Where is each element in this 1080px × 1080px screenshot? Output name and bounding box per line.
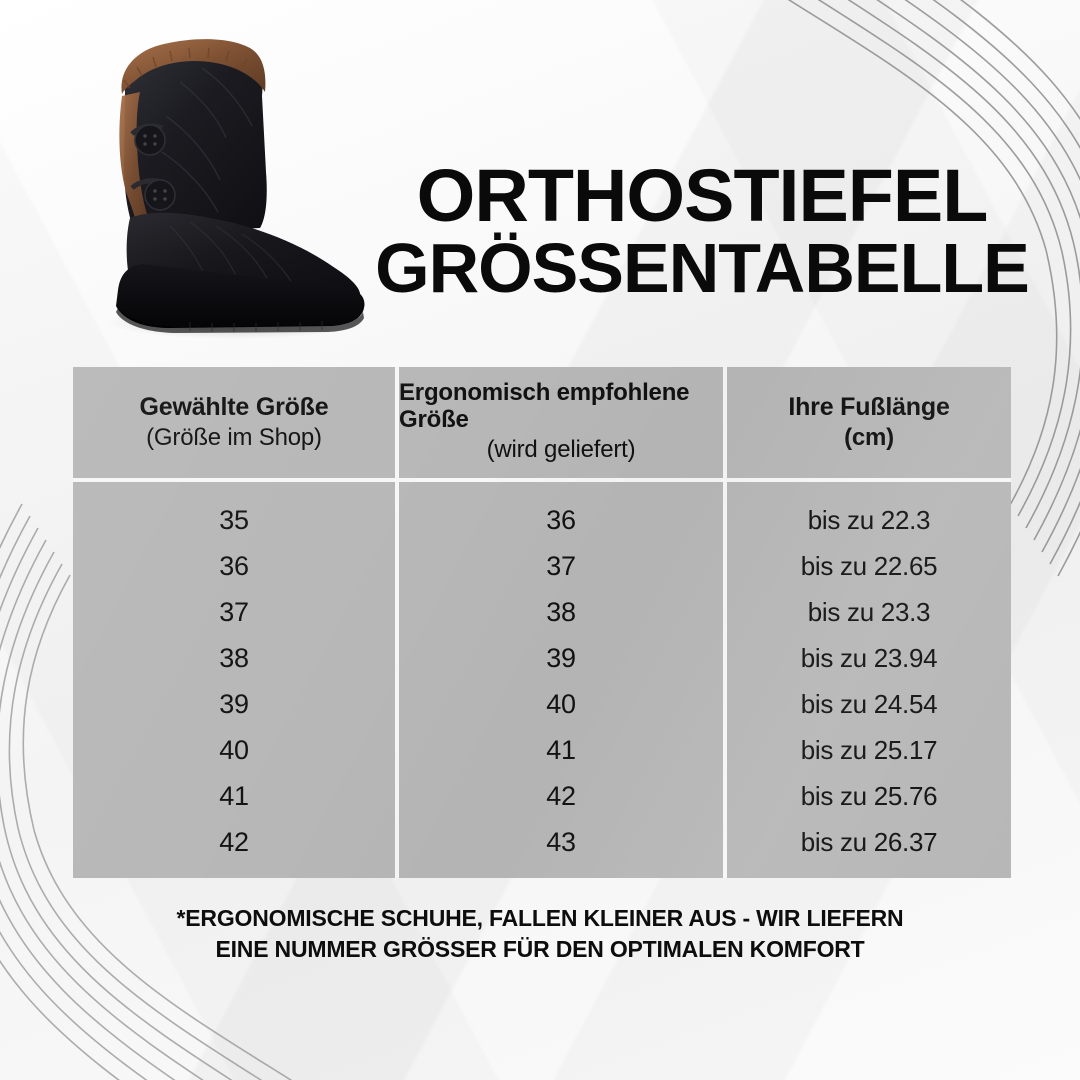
table-cell: bis zu 24.54 <box>727 681 1011 727</box>
table-cell: 38 <box>73 635 395 681</box>
table-cell: 36 <box>399 497 723 543</box>
product-photo <box>70 22 390 362</box>
table-body: 3536373839404142 3637383940414243 bis zu… <box>73 482 1011 878</box>
title-line-2: GRÖSSENTABELLE <box>372 235 1032 302</box>
table-cell: bis zu 25.76 <box>727 773 1011 819</box>
table-cell: bis zu 22.3 <box>727 497 1011 543</box>
column-foot-length: bis zu 22.3bis zu 22.65bis zu 23.3bis zu… <box>727 482 1011 878</box>
size-chart-graphic: ORTHOSTIEFEL GRÖSSENTABELLE Gewählte Grö… <box>0 0 1080 1080</box>
cell-list-recommended: 3637383940414243 <box>399 482 723 878</box>
column-header-title: Ihre Fußlänge <box>788 393 949 421</box>
cell-list-chosen: 3536373839404142 <box>73 482 395 878</box>
table-cell: 40 <box>73 727 395 773</box>
column-header-subtitle: (cm) <box>844 424 894 453</box>
table-cell: bis zu 26.37 <box>727 819 1011 865</box>
footer-note: *ERGONOMISCHE SCHUHE, FALLEN KLEINER AUS… <box>90 903 990 965</box>
table-cell: 38 <box>399 589 723 635</box>
column-header-recommended-size: Ergonomisch empfohlene Größe (wird gelie… <box>399 367 723 478</box>
table-cell: 43 <box>399 819 723 865</box>
column-header-chosen-size: Gewählte Größe (Größe im Shop) <box>73 367 395 478</box>
table-cell: 39 <box>73 681 395 727</box>
footer-line-1: *ERGONOMISCHE SCHUHE, FALLEN KLEINER AUS… <box>90 903 990 934</box>
table-cell: 41 <box>399 727 723 773</box>
title-line-1: ORTHOSTIEFEL <box>365 160 1038 231</box>
table-cell: 36 <box>73 543 395 589</box>
column-header-subtitle: (wird geliefert) <box>487 436 636 465</box>
column-header-foot-length: Ihre Fußlänge (cm) <box>727 367 1011 478</box>
column-header-title: Gewählte Größe <box>140 393 329 421</box>
column-recommended-size: 3637383940414243 <box>399 482 723 878</box>
table-cell: bis zu 23.94 <box>727 635 1011 681</box>
table-cell: bis zu 22.65 <box>727 543 1011 589</box>
table-cell: 42 <box>73 819 395 865</box>
table-cell: 37 <box>73 589 395 635</box>
winter-boot-icon <box>70 22 390 362</box>
table-cell: 41 <box>73 773 395 819</box>
table-header-row: Gewählte Größe (Größe im Shop) Ergonomis… <box>73 367 1011 478</box>
page-title: ORTHOSTIEFEL GRÖSSENTABELLE <box>372 160 1032 302</box>
table-cell: 39 <box>399 635 723 681</box>
table-cell: bis zu 25.17 <box>727 727 1011 773</box>
table-cell: 40 <box>399 681 723 727</box>
column-header-subtitle: (Größe im Shop) <box>146 424 322 453</box>
column-header-title: Ergonomisch empfohlene Größe <box>399 380 723 434</box>
table-cell: bis zu 23.3 <box>727 589 1011 635</box>
table-cell: 37 <box>399 543 723 589</box>
table-cell: 35 <box>73 497 395 543</box>
footer-line-2: EINE NUMMER GRÖSSER FÜR DEN OPTIMALEN KO… <box>90 934 990 965</box>
column-chosen-size: 3536373839404142 <box>73 482 395 878</box>
cell-list-footlength: bis zu 22.3bis zu 22.65bis zu 23.3bis zu… <box>727 482 1011 878</box>
table-cell: 42 <box>399 773 723 819</box>
size-chart-table: Gewählte Größe (Größe im Shop) Ergonomis… <box>73 367 1011 878</box>
